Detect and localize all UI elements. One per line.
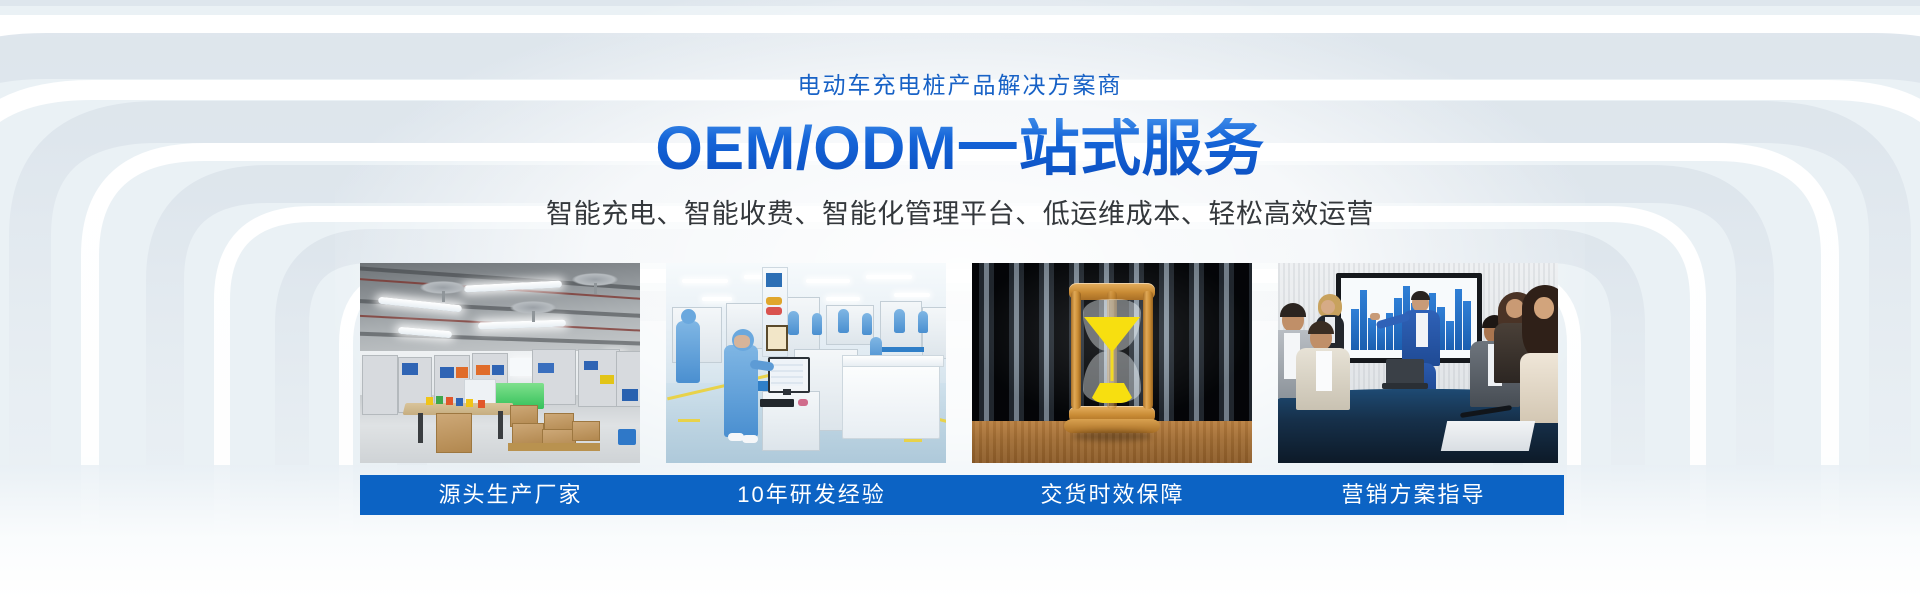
banner-headline: OEM/ODM一站式服务: [655, 118, 1264, 179]
chart-bar: [1463, 301, 1471, 350]
banner-tagline: 电动车充电桩产品解决方案商: [798, 74, 1123, 97]
feature-label[interactable]: 营销方案指导: [1263, 475, 1564, 515]
feature-card[interactable]: [360, 263, 640, 463]
business-meeting-photo: [1278, 263, 1558, 463]
banner-subtitle: 智能充电、智能收费、智能化管理平台、低运维成本、轻松高效运营: [546, 201, 1374, 228]
feature-card[interactable]: [666, 263, 946, 463]
chart-bar: [1360, 290, 1368, 350]
feature-card[interactable]: [1278, 263, 1558, 463]
chart-bar: [1446, 321, 1454, 350]
factory-warehouse-photo: [360, 263, 640, 463]
chart-bar: [1351, 309, 1359, 350]
cleanroom-assembly-photo: [666, 263, 946, 463]
chart-bar: [1368, 318, 1376, 350]
feature-label[interactable]: 交货时效保障: [962, 475, 1263, 515]
feature-label-bar: 源头生产厂家 10年研发经验 交货时效保障 营销方案指导: [360, 475, 1564, 515]
chart-bar: [1455, 289, 1463, 350]
feature-label[interactable]: 10年研发经验: [661, 475, 962, 515]
feature-card[interactable]: [972, 263, 1252, 463]
hourglass-photo: [972, 263, 1252, 463]
feature-label[interactable]: 源头生产厂家: [360, 475, 661, 515]
promo-banner: 电动车充电桩产品解决方案商 OEM/ODM一站式服务 智能充电、智能收费、智能化…: [0, 0, 1920, 600]
feature-card-strip: [360, 263, 1564, 463]
